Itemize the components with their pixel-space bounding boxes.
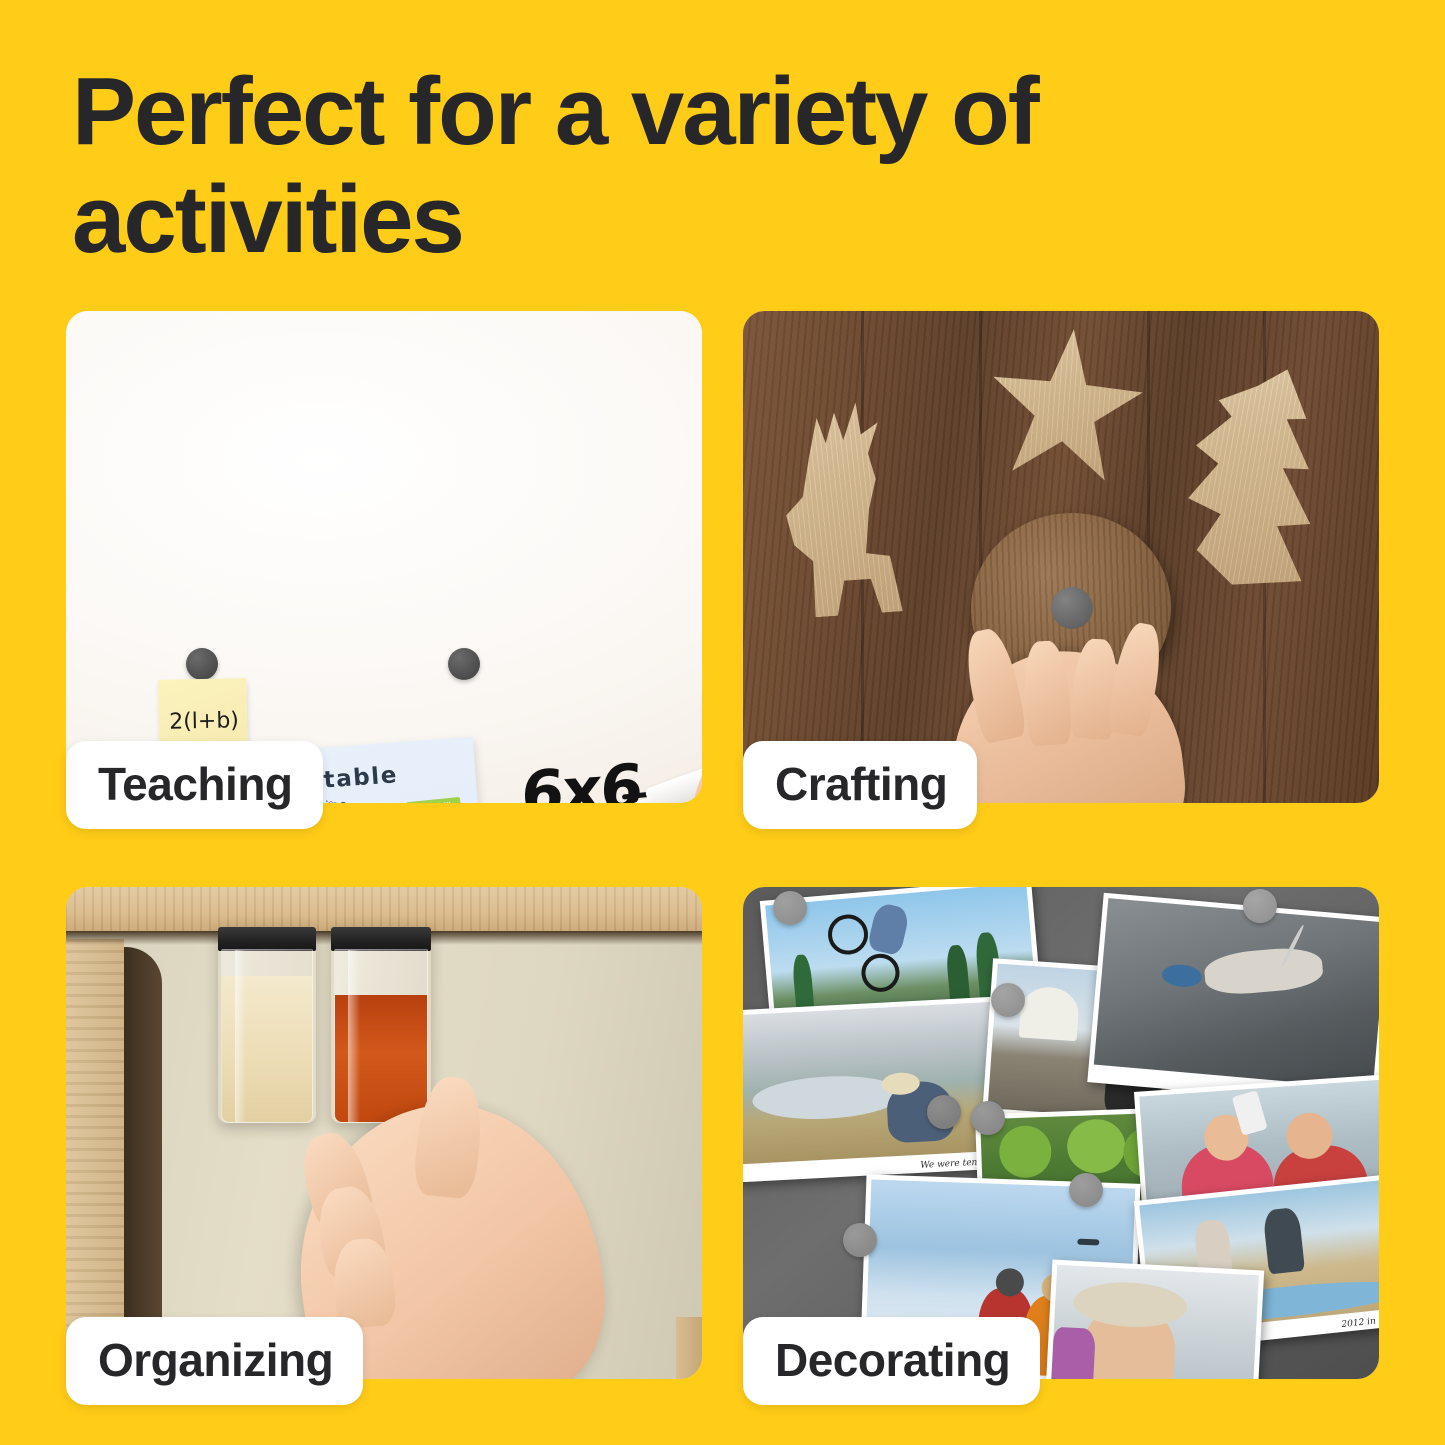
spice-jar-paprika: [331, 927, 431, 1123]
taj-dome: [1019, 985, 1080, 1041]
spice-jar-white: [218, 927, 316, 1123]
activity-cards-grid: 2(l+b) 6x6 School Timetable Learn and Pr…: [66, 311, 1379, 1379]
sun-hat: [1072, 1280, 1188, 1330]
bike-wheel: [860, 952, 901, 993]
cyclist: [867, 902, 911, 956]
card-label-organizing: Organizing: [66, 1317, 363, 1405]
magnet-dot: [991, 983, 1025, 1017]
palm-frond: [1066, 1118, 1126, 1174]
card-label-crafting: Crafting: [743, 741, 977, 829]
magnet-dot: [186, 648, 218, 680]
jumper-body: [1203, 945, 1324, 997]
magnet-dot: [927, 1095, 961, 1129]
card-label-decorating: Decorating: [743, 1317, 1040, 1405]
jar-glass-body: [334, 949, 428, 1123]
wooden-shelf: [66, 887, 702, 931]
magnet-dot: [1050, 586, 1095, 631]
palm-frond: [998, 1125, 1052, 1179]
magnet-dot: [971, 1101, 1005, 1135]
cabinet-right-panel: [676, 1317, 702, 1379]
decorating-scene: We were tenting here Oh India! 1st bun: [743, 887, 1379, 1379]
helicopter: [1077, 1239, 1099, 1246]
jumper-harness: [1161, 963, 1203, 988]
photo-image: [1094, 898, 1379, 1089]
lake-water: [751, 1073, 903, 1123]
jar-glass-highlight: [348, 950, 360, 1122]
magnet-dot: [448, 648, 480, 680]
teaching-scene: 2(l+b) 6x6 School Timetable Learn and Pr…: [66, 311, 702, 803]
photo-caption: 2012 in Sofia: [1341, 1314, 1379, 1330]
photo-bungee-jumper: 1st bungee jump :): [1087, 893, 1379, 1108]
magnet-dot: [773, 891, 807, 925]
bike-wheel: [826, 913, 869, 956]
crafting-scene: [743, 311, 1379, 803]
organizing-scene: [66, 887, 702, 1379]
purple-shirt: [1051, 1327, 1096, 1379]
magnet-dot: [1069, 1173, 1103, 1207]
activity-card-decorating[interactable]: We were tenting here Oh India! 1st bun: [743, 887, 1379, 1379]
sticky-note-text: 2(l+b): [167, 708, 242, 735]
jar-magnetic-lid: [331, 927, 431, 951]
cabinet-left-panel: [66, 939, 124, 1379]
activity-card-organizing[interactable]: [66, 887, 702, 1379]
page-title: Perfect for a variety of activities: [72, 58, 1302, 273]
jar-glass-body: [221, 949, 313, 1123]
activity-card-crafting[interactable]: [743, 311, 1379, 803]
photo-image: [1051, 1265, 1259, 1379]
magnet-dot: [1243, 889, 1277, 923]
magnet-dot: [843, 1223, 877, 1257]
activity-card-teaching[interactable]: 2(l+b) 6x6 School Timetable Learn and Pr…: [66, 311, 702, 803]
photo-woman-in-hat: [1046, 1260, 1264, 1379]
beach-person: [1262, 1207, 1304, 1274]
jar-glass-highlight: [235, 950, 247, 1122]
jar-magnetic-lid: [218, 927, 316, 951]
cabinet-dark-gap: [124, 947, 162, 1379]
card-label-teaching: Teaching: [66, 741, 323, 829]
